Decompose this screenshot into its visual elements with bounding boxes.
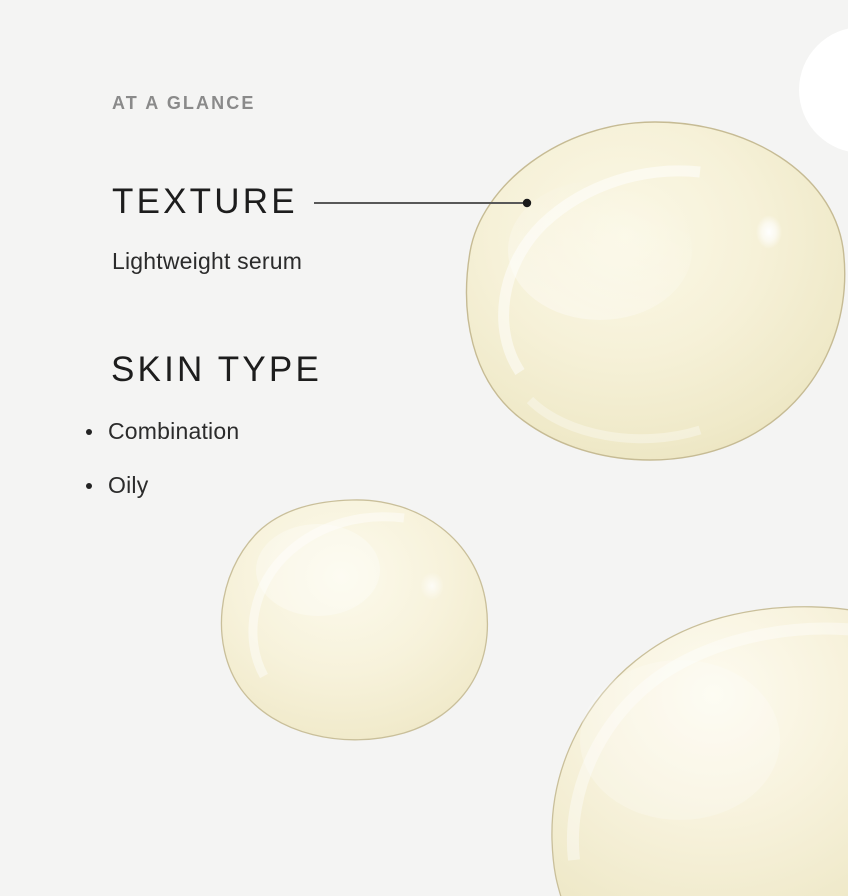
bullet-icon <box>86 429 92 435</box>
large-droplet-top-right <box>467 122 845 460</box>
bullet-icon <box>86 483 92 489</box>
skin-type-list: Combination Oily <box>82 418 239 526</box>
panel-eyebrow-label: AT A GLANCE <box>112 93 255 114</box>
texture-heading: TEXTURE <box>112 182 298 222</box>
large-droplet-bottom-right <box>552 607 848 896</box>
texture-value: Lightweight serum <box>112 248 302 275</box>
at-a-glance-panel: AT A GLANCE TEXTURE Lightweight serum SK… <box>0 0 848 896</box>
texture-leader-line <box>313 196 535 210</box>
skin-type-item-label: Combination <box>108 418 239 444</box>
skin-type-item-label: Oily <box>108 472 148 498</box>
skin-type-heading: SKIN TYPE <box>111 350 322 390</box>
list-item: Oily <box>82 472 239 499</box>
medium-droplet-center <box>221 500 487 740</box>
white-circle-top-right <box>799 27 848 153</box>
list-item: Combination <box>82 418 239 445</box>
leader-endpoint-dot <box>523 199 531 207</box>
